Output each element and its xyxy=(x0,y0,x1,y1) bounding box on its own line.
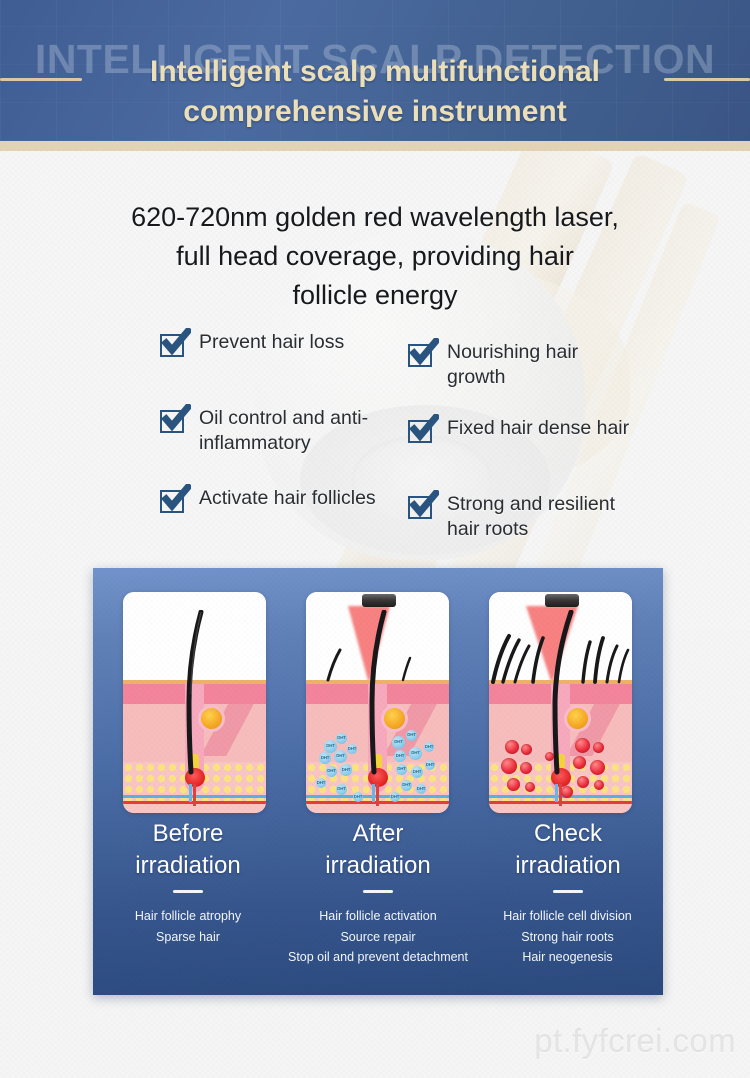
feature-label: Oil control and anti-inflammatory xyxy=(199,406,400,456)
dht-molecule: DHT xyxy=(411,766,423,778)
dht-molecule: DHT xyxy=(336,733,347,744)
lead-line-2: full head coverage, providing hair xyxy=(60,237,690,276)
stage-title-line-1: Before xyxy=(93,818,283,850)
hair-shaft xyxy=(159,610,229,795)
feature-label-line-3: roots xyxy=(485,518,528,540)
feature-activate-hair-follicles: Activate hair follicles xyxy=(160,486,376,514)
stage-title-line-1: After xyxy=(283,818,473,850)
stage-card-before xyxy=(123,592,266,813)
feature-label: Activate hair follicles xyxy=(199,486,376,511)
feature-label-line-1: Fixed hair dense xyxy=(447,417,591,439)
dht-molecule-group: DHT DHT DHT DHT DHT DHT DHT DHT DHT DHT … xyxy=(306,592,449,813)
dht-molecule: DHT xyxy=(416,784,426,794)
red-cell xyxy=(545,752,554,761)
red-cell-group xyxy=(489,592,632,813)
page-header: INTELLIGENT SCALP DETECTION Intelligent … xyxy=(0,0,750,141)
dht-molecule: DHT xyxy=(347,744,357,754)
page-title: Intelligent scalp multifunctional compre… xyxy=(0,52,750,132)
lead-line-3: follicle energy xyxy=(60,276,690,315)
stage-title: Before irradiation xyxy=(93,818,283,881)
caption-separator xyxy=(363,890,393,893)
stage-note: Strong hair roots xyxy=(460,927,675,947)
dht-molecule: DHT xyxy=(319,752,331,764)
red-cell xyxy=(507,778,520,791)
stage-title: Check irradiation xyxy=(473,818,663,881)
feature-strong-resilient-hair-roots: Strong and resilient hair roots xyxy=(408,492,640,542)
red-cell xyxy=(594,780,604,790)
checkmark-icon xyxy=(408,418,436,444)
feature-label: Strong and resilient hair roots xyxy=(447,492,640,542)
lead-paragraph: 620-720nm golden red wavelength laser, f… xyxy=(60,198,690,315)
lead-line-1: 620-720nm golden red wavelength laser, xyxy=(60,198,690,237)
feature-label-line-2: follicles xyxy=(312,487,376,509)
feature-label-line-1: Prevent hair loss xyxy=(199,331,344,353)
feature-nourishing-hair-growth: Nourishing hair growth xyxy=(408,340,640,390)
checkmark-icon xyxy=(160,488,188,514)
red-cell xyxy=(521,744,532,755)
stage-title-line-1: Check xyxy=(473,818,663,850)
red-cell xyxy=(501,758,517,774)
stage-card-after: DHT DHT DHT DHT DHT DHT DHT DHT DHT DHT … xyxy=(306,592,449,813)
dht-molecule: DHT xyxy=(401,780,412,791)
red-cell xyxy=(505,740,519,754)
checkmark-icon xyxy=(160,332,188,358)
feature-label-line-1: Activate hair xyxy=(199,487,306,509)
red-cell xyxy=(575,738,590,753)
header-divider-bar xyxy=(0,141,750,151)
stage-card-check xyxy=(489,592,632,813)
feature-label: Fixed hair dense hair xyxy=(447,416,629,441)
site-watermark: pt.fyfcrei.com xyxy=(0,1022,750,1060)
red-cell xyxy=(577,776,589,788)
stage-title-line-2: irradiation xyxy=(93,850,283,882)
dht-molecule: DHT xyxy=(353,792,363,802)
red-cell xyxy=(520,762,532,774)
dht-molecule: DHT xyxy=(392,736,405,749)
stage-note: Hair follicle cell division xyxy=(460,906,675,926)
red-cell xyxy=(525,782,535,792)
checkmark-icon xyxy=(160,408,188,434)
caption-separator xyxy=(553,890,583,893)
dht-molecule: DHT xyxy=(425,760,435,770)
feature-prevent-hair-loss: Prevent hair loss xyxy=(160,330,344,358)
page-title-line-1: Intelligent scalp multifunctional xyxy=(86,52,664,92)
feature-label: Prevent hair loss xyxy=(199,330,344,355)
stage-title-line-2: irradiation xyxy=(283,850,473,882)
red-cell xyxy=(590,760,605,775)
dht-molecule: DHT xyxy=(396,764,407,775)
dht-molecule: DHT xyxy=(340,764,352,776)
feature-label: Nourishing hair growth xyxy=(447,340,640,390)
dht-molecule: DHT xyxy=(424,742,434,752)
infographic-page: INTELLIGENT SCALP DETECTION Intelligent … xyxy=(0,0,750,1078)
caption-separator xyxy=(173,890,203,893)
dht-molecule: DHT xyxy=(336,784,347,795)
dht-molecule: DHT xyxy=(409,747,422,760)
stage-caption-check: Check irradiation Hair follicle cell div… xyxy=(473,818,663,967)
dht-molecule: DHT xyxy=(390,792,400,802)
feature-label-line-1: Strong and xyxy=(447,493,542,515)
stage-caption-after: After irradiation Hair follicle activati… xyxy=(283,818,473,967)
feature-list: Prevent hair loss Oil control and anti-i… xyxy=(160,328,640,558)
dht-molecule: DHT xyxy=(326,766,337,777)
dht-molecule: DHT xyxy=(394,750,406,762)
dht-molecule: DHT xyxy=(316,778,326,788)
feature-fixed-hair-dense-hair: Fixed hair dense hair xyxy=(408,416,629,444)
feature-label-line-1: Nourishing hair xyxy=(447,341,578,363)
red-cell xyxy=(573,756,586,769)
stage-title-line-2: irradiation xyxy=(473,850,663,882)
red-cell xyxy=(561,786,573,798)
stage-notes: Hair follicle cell division Strong hair … xyxy=(460,906,675,967)
feature-label-line-2: hair xyxy=(597,417,630,439)
feature-oil-control: Oil control and anti-inflammatory xyxy=(160,406,400,456)
dht-molecule: DHT xyxy=(334,750,347,763)
feature-label-line-2: growth xyxy=(447,366,506,388)
checkmark-icon xyxy=(408,342,436,368)
feature-label-line-1: Oil control and xyxy=(199,407,325,429)
comparison-panel: DHT DHT DHT DHT DHT DHT DHT DHT DHT DHT … xyxy=(93,568,663,995)
checkmark-icon xyxy=(408,494,436,520)
stage-title: After irradiation xyxy=(283,818,473,881)
stage-note: Hair neogenesis xyxy=(460,947,675,967)
page-title-line-2: comprehensive instrument xyxy=(86,92,664,132)
dht-molecule: DHT xyxy=(406,730,417,741)
red-cell xyxy=(593,742,604,753)
stage-card-row: DHT DHT DHT DHT DHT DHT DHT DHT DHT DHT … xyxy=(93,592,663,814)
